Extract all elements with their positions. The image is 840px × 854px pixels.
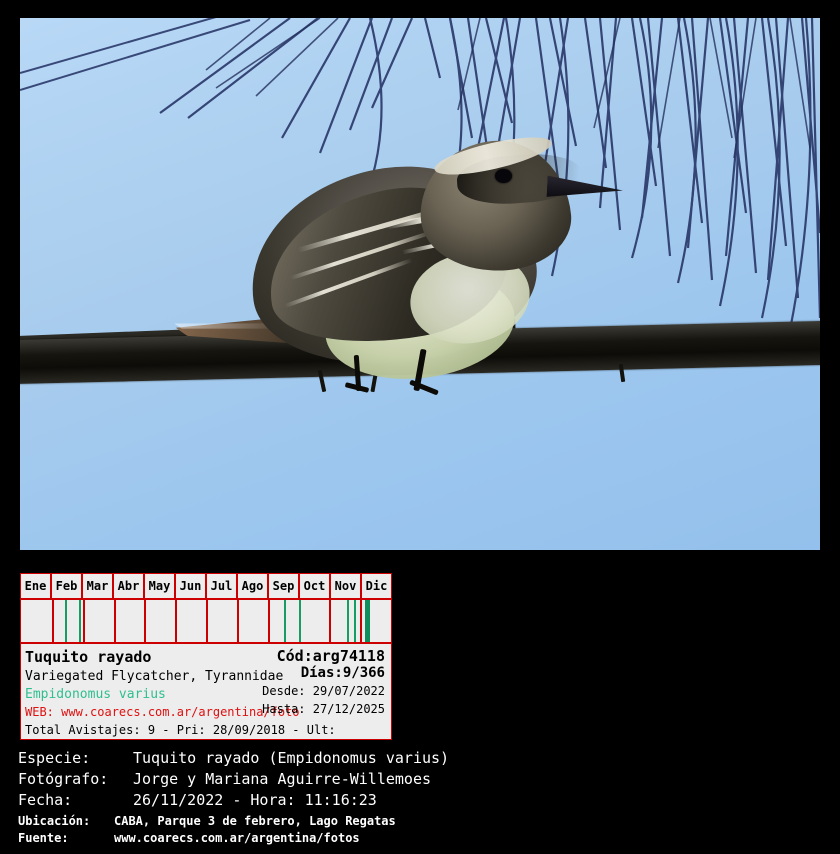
species-info-block: Tuquito rayado Cód:arg74118 Variegated F… bbox=[21, 644, 391, 739]
calendar-sighting-mark bbox=[365, 600, 370, 642]
caption-fuente-value[interactable]: www.coarecs.com.ar/argentina/fotos bbox=[114, 830, 360, 847]
caption-fotografo: Fotógrafo: Jorge y Mariana Aguirre-Wille… bbox=[18, 769, 830, 790]
calendar-month-separator bbox=[83, 600, 85, 642]
caption-fotografo-value: Jorge y Mariana Aguirre-Willemoes bbox=[133, 769, 431, 790]
calendar-month-sep: Sep bbox=[269, 574, 300, 598]
species-common-name: Tuquito rayado bbox=[25, 648, 151, 666]
caption-fecha-value: 26/11/2022 - Hora: 11:16:23 bbox=[133, 790, 377, 811]
calendar-month-jul: Jul bbox=[207, 574, 238, 598]
calendar-month-separator bbox=[268, 600, 270, 642]
caption-ubicacion-value: CABA, Parque 3 de febrero, Lago Regatas bbox=[114, 813, 396, 830]
row-title: Tuquito rayado Cód:arg74118 bbox=[25, 647, 387, 665]
calendar-month-separator bbox=[175, 600, 177, 642]
calendar-month-may: May bbox=[145, 574, 176, 598]
caption-especie-label: Especie: bbox=[18, 748, 133, 769]
caption-fuente-label: Fuente: bbox=[18, 830, 114, 847]
calendar-month-separator bbox=[360, 600, 362, 642]
calendar-month-ago: Ago bbox=[238, 574, 269, 598]
calendar-month-nov: Nov bbox=[331, 574, 362, 598]
calendar-sighting-mark bbox=[65, 600, 67, 642]
calendar-sighting-bars bbox=[21, 600, 391, 644]
calendar-sighting-mark bbox=[299, 600, 301, 642]
caption-ubicacion: Ubicación: CABA, Parque 3 de febrero, La… bbox=[18, 813, 830, 830]
sighting-calendar-panel: EneFebMarAbrMayJunJulAgoSepOctNovDic Tuq… bbox=[20, 573, 392, 740]
caption-fuente: Fuente: www.coarecs.com.ar/argentina/fot… bbox=[18, 830, 830, 847]
caption-fecha-label: Fecha: bbox=[18, 790, 133, 811]
species-days: Días:9/366 bbox=[301, 665, 385, 682]
caption-especie-value: Tuquito rayado (Empidonomus varius) bbox=[133, 748, 449, 769]
row-web: WEB: www.coarecs.com.ar/argentina/foto H… bbox=[25, 701, 387, 719]
bird-eye bbox=[495, 169, 512, 183]
bird-subject bbox=[195, 113, 615, 413]
row-english: Variegated Flycatcher, Tyrannidae Días:9… bbox=[25, 665, 387, 683]
range-hasta: Hasta: 27/12/2025 bbox=[262, 701, 385, 718]
row-scientific: Empidonomus varius Desde: 29/07/2022 bbox=[25, 683, 387, 701]
photo-caption: Especie: Tuquito rayado (Empidonomus var… bbox=[18, 748, 830, 847]
calendar-sighting-mark bbox=[354, 600, 356, 642]
calendar-month-feb: Feb bbox=[52, 574, 83, 598]
species-code: Cód:arg74118 bbox=[277, 647, 385, 665]
calendar-month-abr: Abr bbox=[114, 574, 145, 598]
caption-especie: Especie: Tuquito rayado (Empidonomus var… bbox=[18, 748, 830, 769]
calendar-sighting-mark bbox=[79, 600, 81, 642]
species-web-link[interactable]: WEB: www.coarecs.com.ar/argentina/foto bbox=[25, 705, 300, 719]
calendar-month-separator bbox=[52, 600, 54, 642]
bird-photo bbox=[20, 18, 820, 550]
calendar-month-separator bbox=[144, 600, 146, 642]
caption-ubicacion-label: Ubicación: bbox=[18, 813, 114, 830]
calendar-month-dic: Dic bbox=[362, 574, 391, 598]
calendar-month-separator bbox=[206, 600, 208, 642]
calendar-sighting-mark bbox=[284, 600, 286, 642]
species-scientific-name: Empidonomus varius bbox=[25, 687, 166, 702]
calendar-month-separator bbox=[114, 600, 116, 642]
calendar-month-mar: Mar bbox=[83, 574, 114, 598]
calendar-month-ene: Ene bbox=[21, 574, 52, 598]
calendar-month-oct: Oct bbox=[300, 574, 331, 598]
calendar-month-separator bbox=[329, 600, 331, 642]
calendar-month-jun: Jun bbox=[176, 574, 207, 598]
caption-fecha: Fecha: 26/11/2022 - Hora: 11:16:23 bbox=[18, 790, 830, 811]
calendar-month-separator bbox=[237, 600, 239, 642]
row-totals: Total Avistajes: 9 - Pri: 28/09/2018 - U… bbox=[25, 719, 387, 739]
calendar-month-header: EneFebMarAbrMayJunJulAgoSepOctNovDic bbox=[21, 574, 391, 600]
calendar-sighting-mark bbox=[347, 600, 349, 642]
range-desde: Desde: 29/07/2022 bbox=[262, 683, 385, 700]
caption-fotografo-label: Fotógrafo: bbox=[18, 769, 133, 790]
species-english-name: Variegated Flycatcher, Tyrannidae bbox=[25, 669, 283, 684]
